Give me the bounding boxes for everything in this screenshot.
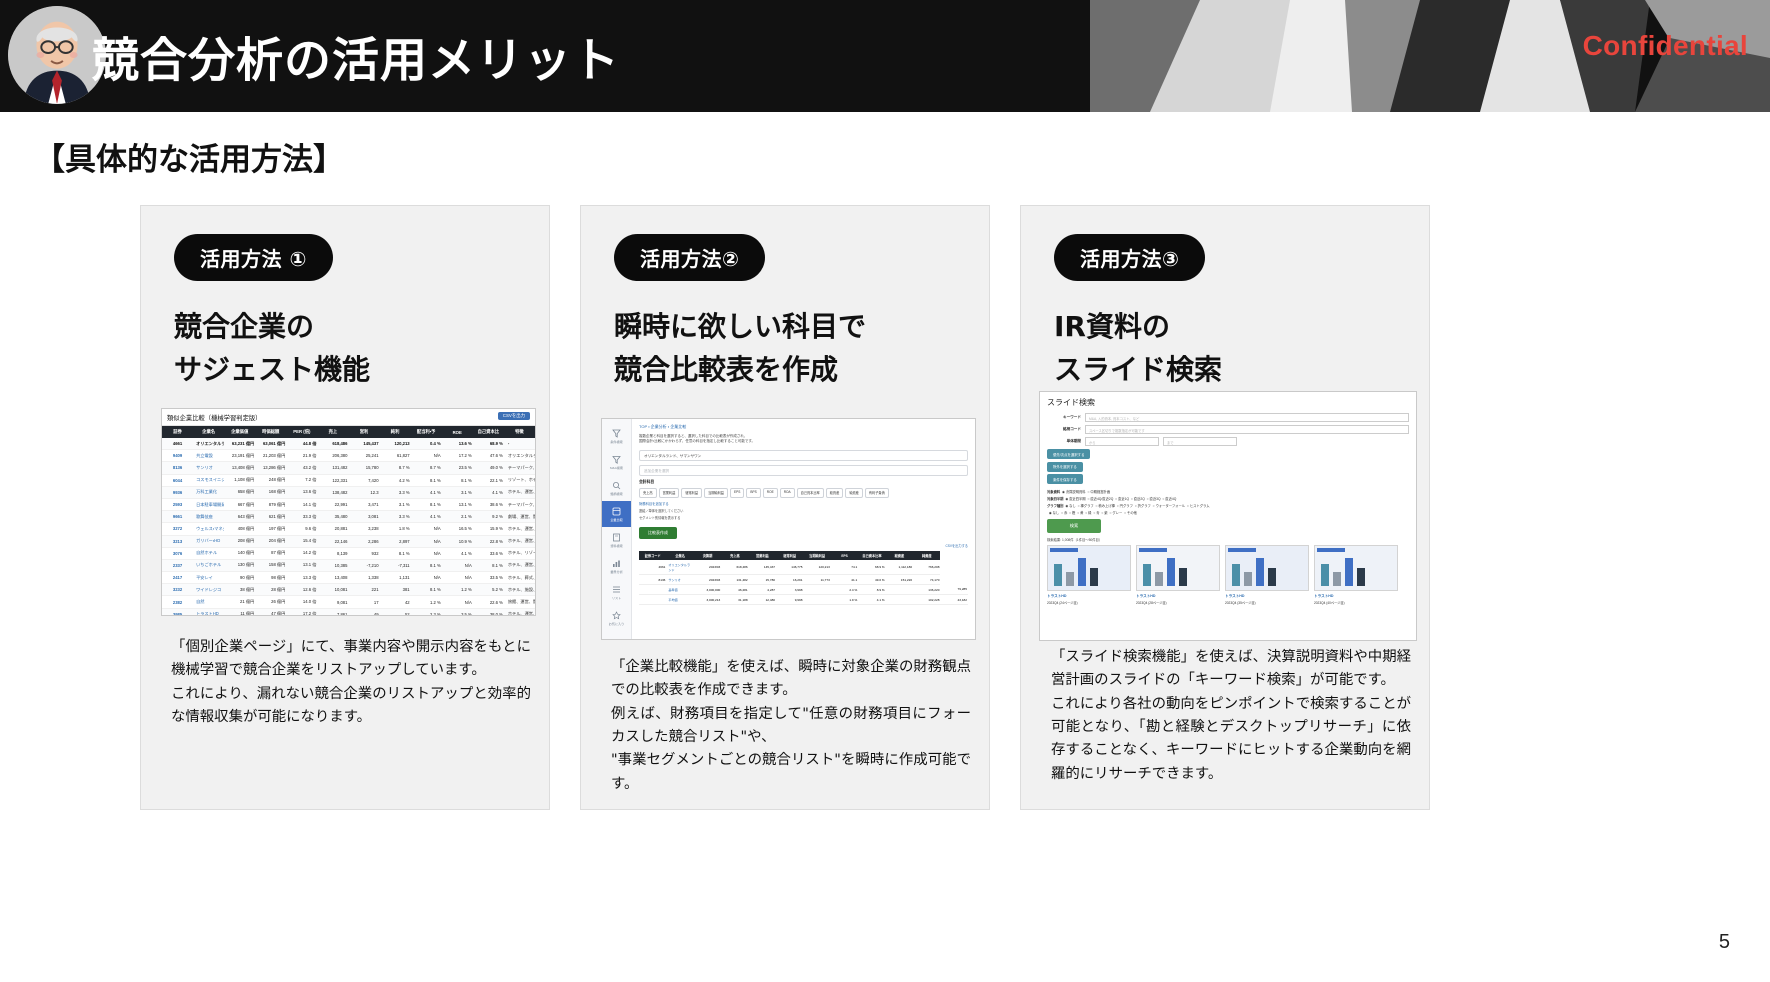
table-cell: 879 億円 bbox=[255, 498, 286, 510]
table-cell: 基準値 bbox=[666, 585, 693, 595]
radio-choice[interactable]: ○ 直近1Q bbox=[1115, 497, 1129, 501]
table-cell: 日本駐車場開発 bbox=[193, 498, 224, 510]
table-col-header: 純利 bbox=[380, 426, 411, 438]
table-cell: 13.3 倍 bbox=[286, 572, 317, 584]
table-cell: 9.6 倍 bbox=[286, 523, 317, 535]
table-cell: 11,773 bbox=[803, 575, 830, 585]
sidebar-item-filter[interactable]: M&A検索 bbox=[602, 449, 631, 475]
table-row[interactable]: 2382自然21 億円26 億円14.0 倍9,08117421.2 %N/A2… bbox=[162, 596, 535, 608]
table-cell: 13.6 % bbox=[442, 438, 473, 450]
table-cell: 15,780 bbox=[749, 575, 776, 585]
table-cell: 1.9 % bbox=[831, 595, 858, 605]
sidebar-item-document[interactable]: 資料検索 bbox=[602, 527, 631, 553]
table-cell: 8.1 % bbox=[442, 474, 473, 486]
table-row[interactable]: 8136サンリオ13,408 億円13,286 億円43.2 倍131,4821… bbox=[162, 462, 535, 474]
table-cell: 3.5 % bbox=[442, 608, 473, 616]
table-row[interactable]: 2337いちごホテル130 億円158 億円13.1 倍10,385-7,210… bbox=[162, 559, 535, 571]
table-cell: 3,471 bbox=[348, 498, 379, 510]
table-cell: 2023/03 bbox=[694, 575, 721, 585]
table-cell bbox=[803, 595, 830, 605]
card-3-badge: 活用方法③ bbox=[1054, 234, 1205, 281]
table-cell: コスモスイニシア bbox=[193, 474, 224, 486]
option-row: 対象資料 ◉ 決算説明資料 ○ 中期経営計画 bbox=[1047, 489, 1409, 494]
table-cell: 158 億円 bbox=[255, 559, 286, 571]
table-cell: 8.1 % bbox=[411, 559, 442, 571]
filter-button[interactable]: 除外を選択する bbox=[1047, 462, 1083, 472]
table-cell: 2417 bbox=[162, 572, 193, 584]
radio-choice[interactable]: ○ その他 bbox=[1124, 511, 1137, 515]
sidebar-item-label: リスト bbox=[612, 595, 621, 600]
sidebar-item-chart[interactable]: 業界分析 bbox=[602, 553, 631, 579]
slide-thumb-company: トラストHD bbox=[1314, 594, 1398, 599]
result-count: 検索結果: 1,008件（1件目〜50件目） bbox=[1047, 537, 1409, 542]
table-cell: 44.8 倍 bbox=[286, 438, 317, 450]
table-row[interactable]: 3076自然ホテル140 億円87 億円14.2 倍8,1399328.1 %N… bbox=[162, 547, 535, 559]
table-row[interactable]: 3985トラストHD11 億円47 億円17.2 倍7,86149522.3 %… bbox=[162, 608, 535, 616]
sidebar-item-funnel[interactable]: 条件検索 bbox=[602, 423, 631, 449]
card-2-heading: 瞬時に欲しい科目で 競合比較表を作成 bbox=[614, 306, 866, 391]
table-row[interactable]: 3272ウェルス・マネジメント408 億円197 億円9.6 倍20,8813,… bbox=[162, 523, 535, 535]
mini-table-title: CSVを出力 類似企業比較（機械学習判定版） bbox=[162, 409, 535, 426]
table-cell: 43,182 bbox=[940, 595, 968, 605]
table-cell: 52 bbox=[380, 608, 411, 616]
table-cell: 10,385 bbox=[317, 559, 348, 571]
card-1-body-text: 「個別企業ページ」にて、事業内容や開示内容をもとに機械学習で競合企業をリストアッ… bbox=[171, 636, 531, 729]
table-cell: 618,486 bbox=[317, 438, 348, 450]
card-2-badge: 活用方法② bbox=[614, 234, 765, 281]
panel-description: 複数企業と科目を選択すると、選択した科目での比較表が作成され、 国際会計・比較に… bbox=[639, 434, 968, 445]
table-header-row: 証券企業名企業価値時価総額PER (倍)売上営利純利配当利・予ROE自己資本比特… bbox=[162, 426, 535, 438]
slide-thumb-image bbox=[1314, 545, 1398, 591]
card-1-screenshot: CSVを出力 類似企業比較（機械学習判定版） 証券企業名企業価値時価総額PER … bbox=[161, 408, 536, 616]
table-cell: 87 億円 bbox=[255, 547, 286, 559]
table-col-header: 自己資本比率 bbox=[858, 551, 885, 560]
table-cell: ホテル、運営、施設、賃貸、関東、関西 bbox=[504, 608, 535, 616]
table-cell: 3.1 % bbox=[442, 486, 473, 498]
csv-export-button[interactable]: CSVを出力 bbox=[498, 412, 530, 420]
slide-thumb-page: 2023Q4 (40ページ目) bbox=[1314, 600, 1398, 605]
option-label: グラフ種別 bbox=[1047, 504, 1063, 508]
radio-choice[interactable]: ◉ なし bbox=[1049, 511, 1059, 515]
account-chip[interactable]: 当期純利益 bbox=[704, 488, 728, 498]
table-col-header: 売上高 bbox=[721, 551, 748, 560]
table-cell: 74.1 bbox=[831, 560, 858, 575]
slide-search-buttons: 優先/次点を選択する除外を選択する条件を保存する bbox=[1047, 449, 1409, 487]
radio-option-2[interactable]: セグメント別情報を表示する bbox=[639, 515, 968, 520]
table-cell: ホテル、リゾート、運営、関東、沖縄 bbox=[504, 547, 535, 559]
table-cell: ホテル、運営、関西、関東 bbox=[504, 523, 535, 535]
filter-button[interactable]: 優先/次点を選択する bbox=[1047, 449, 1090, 459]
account-chip[interactable]: 営業利益 bbox=[659, 488, 680, 498]
sidebar-item-star[interactable]: お気に入り bbox=[602, 605, 631, 631]
radio-choice[interactable]: ○ 積み上げ棒 bbox=[1096, 504, 1115, 508]
table-cell: N/A bbox=[411, 547, 442, 559]
radio-choice[interactable]: ○ 青 bbox=[1093, 511, 1099, 515]
table-cell: 9,081 bbox=[317, 596, 348, 608]
table-cell: 28 億円 bbox=[255, 584, 286, 596]
filter-button[interactable]: 条件を保存する bbox=[1047, 474, 1083, 484]
table-cell: 33.3 倍 bbox=[286, 511, 317, 523]
table-col-header: 経常利益 bbox=[776, 551, 803, 560]
table-cell: N/A bbox=[442, 596, 473, 608]
table-cell: 145,437 bbox=[749, 560, 776, 575]
table-cell: 平安レイ bbox=[193, 572, 224, 584]
usage-card-2: 活用方法② 瞬時に欲しい科目で 競合比較表を作成 条件検索M&A検索銘柄検索企業… bbox=[580, 205, 990, 810]
table-row[interactable]: 3213ガリバー・HD208 億円204 億円15.4 倍22,1462,286… bbox=[162, 535, 535, 547]
table-cell: 122,331 bbox=[317, 474, 348, 486]
table-cell: 8.7 % bbox=[380, 462, 411, 474]
table-col-header: 企業名 bbox=[193, 426, 224, 438]
table-cell: 131,482 bbox=[721, 575, 748, 585]
radio-choice[interactable]: ○ 直近4Q/直近2Q bbox=[1087, 497, 1113, 501]
table-cell: 42 bbox=[380, 596, 411, 608]
slide-thumb[interactable]: トラストHD2023Q4 (24ページ目) bbox=[1047, 545, 1131, 605]
table-row[interactable]: 基準値3,000,00046,2814,2873,9982.4 %8.9 %13… bbox=[639, 585, 968, 595]
table-row[interactable]: 平均値3,000,21331,18812,4809,9981.9 %4.1 %1… bbox=[639, 595, 968, 605]
table-cell: 3,000,213 bbox=[694, 595, 721, 605]
table-cell: 4.1 % bbox=[411, 486, 442, 498]
table-body: 4661オリエンタルランド2023/03618,486145,437146,77… bbox=[639, 560, 968, 605]
table-cell: 197 億円 bbox=[255, 523, 286, 535]
table-cell: 15,780 bbox=[348, 462, 379, 474]
account-chip[interactable]: 純資産 bbox=[845, 488, 863, 498]
table-cell: 8.9 % bbox=[858, 585, 885, 595]
table-col-header: 配当利・予 bbox=[411, 426, 442, 438]
table-cell: 1,108 億円 bbox=[224, 474, 255, 486]
table-row[interactable]: 4661オリエンタルランド63,231 億円63,061 億円44.8 倍618… bbox=[162, 438, 535, 450]
table-cell: ホテル、運営、施設、首都圏、関東 bbox=[504, 486, 535, 498]
table-cell: 206,380 bbox=[317, 450, 348, 462]
table-row[interactable]: 6044コスモスイニシア1,108 億円248 億円7.2 倍122,3317,… bbox=[162, 474, 535, 486]
table-cell: 13,286 億円 bbox=[255, 462, 286, 474]
card-1-badge: 活用方法 ① bbox=[174, 234, 333, 281]
table-cell: 63,061 億円 bbox=[255, 438, 286, 450]
search-field-row: 銘柄コードスペース区切りで複数指定が可能です bbox=[1047, 425, 1409, 434]
table-cell: 9.2 % bbox=[473, 511, 504, 523]
slide-thumb[interactable]: トラストHD2023Q4 (40ページ目) bbox=[1314, 545, 1398, 605]
table-cell: 3,000,000 bbox=[694, 585, 721, 595]
table-cell: 90 億円 bbox=[224, 572, 255, 584]
radio-choice[interactable]: ○ ヒストグラム bbox=[1187, 504, 1210, 508]
card-2-screenshot: 条件検索M&A検索銘柄検索企業比較資料検索業界分析リストお気に入り TOP ・ … bbox=[601, 418, 976, 640]
table-row[interactable]: 9409共立電設23,191 億円21,203 億円21.9 倍206,3802… bbox=[162, 450, 535, 462]
create-comparison-button[interactable]: 比較表作成 bbox=[639, 527, 677, 539]
radio-choice[interactable]: ○ 棒グラフ bbox=[1078, 504, 1094, 508]
table-cell: N/A bbox=[411, 450, 442, 462]
table-cell: 25,241 bbox=[348, 450, 379, 462]
filter-icon bbox=[612, 455, 621, 464]
table-col-header: 企業価値 bbox=[224, 426, 255, 438]
radio-choice[interactable]: ○ 直近2Q bbox=[1131, 497, 1145, 501]
table-cell: ホテル、運営、首都圏 bbox=[504, 559, 535, 571]
table-cell: 8136 bbox=[162, 462, 193, 474]
table-col-header: 自己資本比 bbox=[473, 426, 504, 438]
similar-companies-table: 証券企業名企業価値時価総額PER (倍)売上営利純利配当利・予ROE自己資本比特… bbox=[162, 426, 535, 616]
table-cell: 9,998 bbox=[776, 595, 803, 605]
slide-search-options: 対象資料 ◉ 決算説明資料 ○ 中期経営計画対象四半期 ◉ 直近四半期 ○ 直近… bbox=[1047, 489, 1409, 516]
account-chip[interactable]: 総資産 bbox=[826, 488, 844, 498]
table-cell: 8.1 % bbox=[380, 547, 411, 559]
table-cell: 15.4 倍 bbox=[286, 535, 317, 547]
sidebar-item-list[interactable]: リスト bbox=[602, 579, 631, 605]
sidebar-item-compare[interactable]: 企業比較 bbox=[602, 501, 631, 527]
table-cell: 14.0 倍 bbox=[286, 596, 317, 608]
table-cell: 21.9 倍 bbox=[286, 450, 317, 462]
usage-card-1: 活用方法 ① 競合企業の サジェスト機能 CSVを出力 類似企業比較（機械学習判… bbox=[140, 205, 550, 810]
table-cell: 3,238 bbox=[348, 523, 379, 535]
field-label: キーワード bbox=[1047, 415, 1081, 420]
table-cell: 47 億円 bbox=[255, 608, 286, 616]
add-financial-item-link[interactable]: 財務科目を追加する bbox=[639, 501, 968, 506]
table-cell: 14.2 倍 bbox=[286, 547, 317, 559]
table-cell bbox=[886, 585, 913, 595]
slide-thumb[interactable]: トラストHD2023Q4 (35ページ目) bbox=[1225, 545, 1309, 605]
table-cell: 2,286 bbox=[348, 535, 379, 547]
table-cell: 204 億円 bbox=[255, 535, 286, 547]
radio-choice[interactable]: ○ 紫 bbox=[1101, 511, 1107, 515]
csv-export-link[interactable]: CSVを出力する bbox=[639, 543, 968, 548]
table-cell: N/A bbox=[411, 535, 442, 547]
table-cell: 131,482 bbox=[317, 462, 348, 474]
table-cell: 41.1 bbox=[831, 575, 858, 585]
table-cell: 35,480 bbox=[317, 511, 348, 523]
table-col-header: 売上 bbox=[317, 426, 348, 438]
slide-thumbnails: トラストHD2023Q4 (24ページ目)トラストHD2023Q4 (28ページ… bbox=[1047, 545, 1409, 605]
option-label: 対象四半期 bbox=[1047, 497, 1063, 501]
usage-cards: 活用方法 ① 競合企業の サジェスト機能 CSVを出力 類似企業比較（機械学習判… bbox=[140, 205, 1630, 810]
field-label: 銘柄コード bbox=[1047, 427, 1081, 432]
radio-choice[interactable]: ◉ 直近四半期 bbox=[1065, 497, 1085, 501]
table-cell: 3.3 % bbox=[380, 486, 411, 498]
account-chip[interactable]: ROA bbox=[780, 488, 795, 498]
app-main-panel: TOP ・ 企業分析 ・ 企業比較 複数企業と科目を選択すると、選択した科目での… bbox=[632, 419, 975, 639]
table-cell: 2.4 % bbox=[831, 585, 858, 595]
table-cell bbox=[639, 585, 666, 595]
table-cell: 23,191 億円 bbox=[224, 450, 255, 462]
table-cell: 643 億円 bbox=[224, 511, 255, 523]
table-cell: 3213 bbox=[162, 535, 193, 547]
table-cell: 3,081 bbox=[348, 511, 379, 523]
table-cell: 8.1 % bbox=[411, 498, 442, 510]
table-cell: 151,220 bbox=[886, 575, 913, 585]
account-chip[interactable]: BPS bbox=[746, 488, 760, 498]
table-cell: 14.1 倍 bbox=[286, 498, 317, 510]
table-cell: 766,208 bbox=[913, 560, 940, 575]
slide-header: 競合分析の活用メリット Confidential bbox=[0, 0, 1770, 112]
table-col-header: 特徴 bbox=[504, 426, 535, 438]
comparison-result-table: 証券コード企業名決算期売上高営業利益経常利益当期純利益EPS自己資本比率総資産純… bbox=[639, 551, 968, 605]
card-3-screenshot: スライド検索 キーワードM&A, 人的資本, 資本コスト、など銘柄コードスペース… bbox=[1039, 391, 1417, 641]
radio-choice[interactable]: ○ グレー bbox=[1109, 511, 1122, 515]
table-cell: 68.9 % bbox=[473, 438, 504, 450]
table-cell: 自然ホテル bbox=[193, 547, 224, 559]
table-cell: 667 億円 bbox=[224, 498, 255, 510]
table-cell: N/A bbox=[411, 572, 442, 584]
table-cell: 3985 bbox=[162, 608, 193, 616]
slide-thumb[interactable]: トラストHD2023Q4 (28ページ目) bbox=[1136, 545, 1220, 605]
account-chip[interactable]: 有利子負債 bbox=[865, 488, 889, 498]
table-cell: 8.7 % bbox=[411, 462, 442, 474]
table-cell: 8.1 % bbox=[473, 559, 504, 571]
table-cell: 130 億円 bbox=[224, 559, 255, 571]
table-cell: 10.9 % bbox=[442, 535, 473, 547]
table-cell: 138,482 bbox=[317, 486, 348, 498]
table-cell: 劇場、運営、関東 bbox=[504, 511, 535, 523]
slide-thumb-page: 2023Q4 (35ページ目) bbox=[1225, 600, 1309, 605]
table-row[interactable]: 8136サンリオ2023/03131,48215,78016,29111,773… bbox=[639, 575, 968, 585]
table-cell: N/A bbox=[442, 572, 473, 584]
field-input[interactable]: から bbox=[1085, 437, 1159, 446]
table-cell: 61,827 bbox=[380, 450, 411, 462]
page-title: 競合分析の活用メリット bbox=[92, 22, 620, 91]
table-cell: 3.3 % bbox=[380, 511, 411, 523]
table-col-header: 営利 bbox=[348, 426, 379, 438]
page-number: 5 bbox=[1719, 931, 1730, 954]
table-cell: N/A bbox=[411, 523, 442, 535]
radio-choice[interactable]: ○ 中期経営計画 bbox=[1087, 490, 1110, 494]
table-cell: - bbox=[504, 438, 535, 450]
search-icon bbox=[612, 481, 621, 490]
radio-choice[interactable]: ○ 折グラフ bbox=[1135, 504, 1151, 508]
table-cell: 98 億円 bbox=[255, 572, 286, 584]
table-cell: 12.3 bbox=[348, 486, 379, 498]
table-col-header: EPS bbox=[831, 551, 858, 560]
table-cell: 102,228 bbox=[913, 595, 940, 605]
radio-option-1[interactable]: 連結／単体を選択してください bbox=[639, 508, 968, 513]
table-body: 4661オリエンタルランド63,231 億円63,061 億円44.8 倍618… bbox=[162, 438, 535, 616]
table-cell: 63,231 億円 bbox=[224, 438, 255, 450]
table-cell: サンリオ bbox=[193, 462, 224, 474]
table-cell: 26 億円 bbox=[255, 596, 286, 608]
company-select-input[interactable]: オリエンタルランド、サマンサワン bbox=[639, 450, 968, 461]
table-cell: ワイドレジコ bbox=[193, 584, 224, 596]
table-row[interactable]: 9661歌舞伎座643 億円621 億円33.3 倍35,4803,0813.3… bbox=[162, 511, 535, 523]
table-row[interactable]: 2417平安レイ90 億円98 億円13.3 倍13,4081,3381,131… bbox=[162, 572, 535, 584]
slide-search-fields: キーワードM&A, 人的資本, 資本コスト、など銘柄コードスペース区切りで複数指… bbox=[1047, 413, 1409, 446]
sidebar-item-search[interactable]: 銘柄検索 bbox=[602, 475, 631, 501]
table-row[interactable]: 3232ワイドレジコ38 億円28 億円12.6 倍10,0812213818.… bbox=[162, 584, 535, 596]
table-cell: トラストHD bbox=[193, 608, 224, 616]
table-cell: 2,897 bbox=[380, 535, 411, 547]
table-cell: 12.6 倍 bbox=[286, 584, 317, 596]
table-cell: テーマパーク、運営、リゾート、ホテル、関東、関西、関東 bbox=[504, 498, 535, 510]
table-cell: 万科工業化 bbox=[193, 486, 224, 498]
table-cell: 140 億円 bbox=[224, 547, 255, 559]
table-cell: 3232 bbox=[162, 584, 193, 596]
field-input[interactable]: M&A, 人的資本, 資本コスト、など bbox=[1085, 413, 1409, 422]
table-cell: 17.2 % bbox=[442, 450, 473, 462]
radio-choice[interactable]: ○ 緑 bbox=[1085, 511, 1091, 515]
table-col-header: PER (倍) bbox=[286, 426, 317, 438]
table-cell: オリエンタルランド、電鉄、ホテル bbox=[504, 450, 535, 462]
account-chip[interactable]: ROE bbox=[763, 488, 778, 498]
table-row[interactable]: 2593日本駐車場開発667 億円879 億円14.1 倍22,9913,471… bbox=[162, 498, 535, 510]
slide-thumb-page: 2023Q4 (28ページ目) bbox=[1136, 600, 1220, 605]
table-cell: 13,408 億円 bbox=[224, 462, 255, 474]
table-cell: 共立電設 bbox=[193, 450, 224, 462]
table-cell: 7,861 bbox=[317, 608, 348, 616]
table-cell: 11 億円 bbox=[224, 608, 255, 616]
company-add-input[interactable]: 追加企業を選択 bbox=[639, 465, 968, 476]
radio-choice[interactable]: ○ ウォーターフォール bbox=[1153, 504, 1185, 508]
option-row: 対象四半期 ◉ 直近四半期 ○ 直近4Q/直近2Q ○ 直近1Q ○ 直近2Q … bbox=[1047, 496, 1409, 501]
table-cell: 15.9 % bbox=[473, 523, 504, 535]
table-cell: 49 bbox=[348, 608, 379, 616]
table-cell: 21,203 億円 bbox=[255, 450, 286, 462]
radio-choice[interactable]: ◉ なし bbox=[1065, 504, 1075, 508]
option-row: ◉ なし ○ 赤 ○ 橙 ○ 黄 ○ 緑 ○ 青 ○ 紫 ○ グレー ○ その他 bbox=[1047, 510, 1409, 515]
table-cell: 5.2 % bbox=[473, 584, 504, 596]
table-cell: 3076 bbox=[162, 547, 193, 559]
table-cell: 1.8 % bbox=[380, 523, 411, 535]
table-cell: 6044 bbox=[162, 474, 193, 486]
table-cell: 4,287 bbox=[749, 585, 776, 595]
table-cell: 618,486 bbox=[721, 560, 748, 575]
table-cell: 2382 bbox=[162, 596, 193, 608]
radio-choice[interactable]: ○ 黄 bbox=[1077, 511, 1083, 515]
table-cell: 17 bbox=[348, 596, 379, 608]
account-chip[interactable]: 売上高 bbox=[639, 488, 657, 498]
radio-choice[interactable]: ○ 橙 bbox=[1069, 511, 1075, 515]
table-col-header: 企業名 bbox=[666, 551, 693, 560]
table-cell: 4.1 % bbox=[442, 547, 473, 559]
radio-choice[interactable]: ○ 直近4Q bbox=[1162, 497, 1176, 501]
radio-choice[interactable]: ○ 赤 bbox=[1061, 511, 1067, 515]
table-col-header: 当期純利益 bbox=[803, 551, 830, 560]
table-row[interactable]: 4661オリエンタルランド2023/03618,486145,437146,77… bbox=[639, 560, 968, 575]
table-cell: 38.6 % bbox=[473, 498, 504, 510]
table-cell: 1,338 bbox=[348, 572, 379, 584]
account-chip[interactable]: EPS bbox=[730, 488, 744, 498]
field-input[interactable]: スペース区切りで複数指定が可能です bbox=[1085, 425, 1409, 434]
document-icon bbox=[612, 533, 621, 542]
table-cell: 168 億円 bbox=[255, 486, 286, 498]
table-cell: 13.1 % bbox=[442, 498, 473, 510]
table-cell: 2023/03 bbox=[694, 560, 721, 575]
radio-choice[interactable]: ◉ 決算説明資料 bbox=[1062, 490, 1086, 494]
slide-thumb-company: トラストHD bbox=[1047, 594, 1131, 599]
account-chip[interactable]: 経常利益 bbox=[681, 488, 702, 498]
table-row[interactable]: 9936万科工業化658 億円168 億円13.6 倍138,48212.33.… bbox=[162, 486, 535, 498]
table-cell: 68.9 % bbox=[858, 560, 885, 575]
slide-thumb-page: 2023Q4 (24ページ目) bbox=[1047, 600, 1131, 605]
table-cell: 248 億円 bbox=[255, 474, 286, 486]
table-cell: N/A bbox=[442, 559, 473, 571]
search-button[interactable]: 検索 bbox=[1047, 519, 1101, 533]
slide-thumb-image bbox=[1047, 545, 1131, 591]
table-cell: 932 bbox=[348, 547, 379, 559]
field-input-2[interactable]: まで bbox=[1163, 437, 1237, 446]
sidebar-item-label: 業界分析 bbox=[610, 569, 622, 574]
table-cell: 22,146 bbox=[317, 535, 348, 547]
table-cell: 136,220 bbox=[913, 585, 940, 595]
table-cell: 47.6 % bbox=[473, 450, 504, 462]
radio-choice[interactable]: ○ 円グラフ bbox=[1117, 504, 1133, 508]
table-header-row: 証券コード企業名決算期売上高営業利益経常利益当期純利益EPS自己資本比率総資産純… bbox=[639, 551, 968, 560]
account-chip[interactable]: 自己資本比率 bbox=[797, 488, 824, 498]
table-cell: 49.0 % bbox=[858, 575, 885, 585]
radio-choice[interactable]: ○ 直近3Q bbox=[1147, 497, 1161, 501]
table-cell: 13.1 倍 bbox=[286, 559, 317, 571]
table-cell: オリエンタルランド bbox=[666, 560, 693, 575]
chart-icon bbox=[612, 559, 621, 568]
sidebar-item-label: お気に入り bbox=[609, 621, 624, 626]
table-cell: ホテル、葬式、花園、運営、関東、関西 bbox=[504, 572, 535, 584]
table-cell: 381 bbox=[380, 584, 411, 596]
breadcrumb[interactable]: TOP ・ 企業分析 ・ 企業比較 bbox=[639, 424, 968, 430]
table-cell: ウェルス・マネジメント bbox=[193, 523, 224, 535]
slide-thumb-image bbox=[1225, 545, 1309, 591]
